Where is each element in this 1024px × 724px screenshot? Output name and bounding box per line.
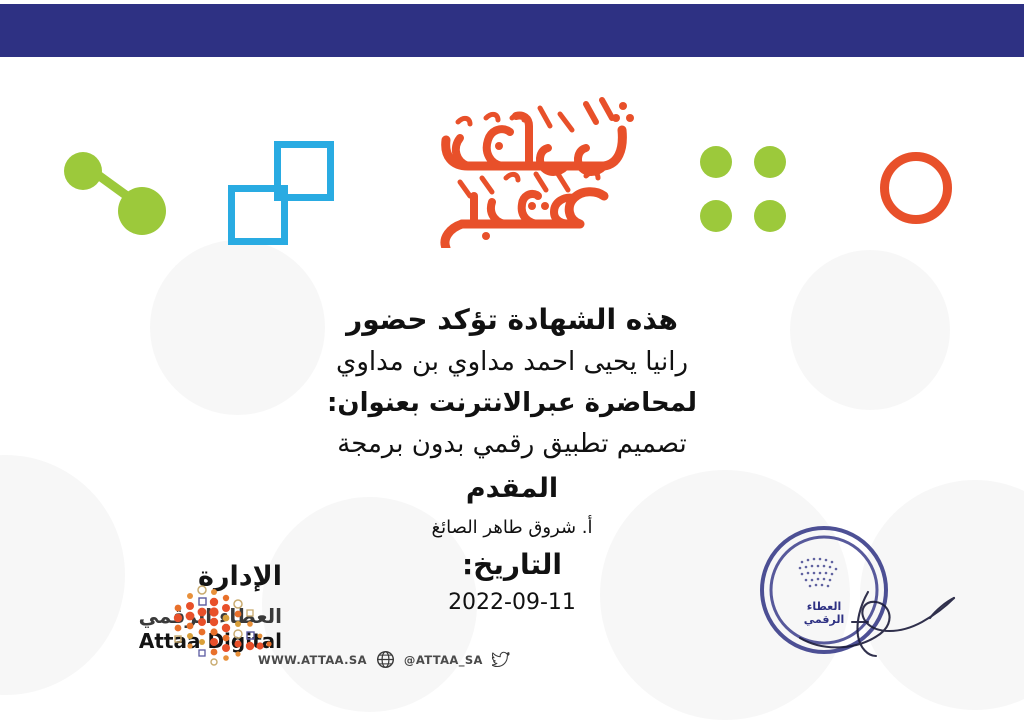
twitter-bird-icon <box>492 650 511 669</box>
recipient-name: رانيا يحيى احمد مداوي بن مداوي <box>0 346 1024 379</box>
certificate-title-calligraphy <box>390 78 650 248</box>
stamp-org-line-2: الرقمي <box>804 613 844 626</box>
certificate-page: هذه الشهادة تؤكد حضور رانيا يحيى احمد مد… <box>0 0 1024 724</box>
official-stamp-and-signature: العطاء الرقمي <box>740 518 980 668</box>
globe-icon <box>376 650 395 669</box>
lecture-label: لمحاضرة عبرالانترنت بعنوان: <box>0 387 1024 420</box>
green-dot-grid-icon <box>700 146 786 232</box>
confirmation-line: هذه الشهادة تؤكد حضور <box>0 302 1024 338</box>
green-node-link-icon <box>60 146 170 236</box>
stamp-rings <box>762 528 886 652</box>
lecture-topic: تصميم تطبيق رقمي بدون برمجة <box>0 428 1024 461</box>
stamp-org-line-1: العطاء <box>807 600 842 613</box>
presenter-label: المقدم <box>0 472 1024 507</box>
orange-ring-icon <box>880 152 952 224</box>
website-url[interactable]: WWW.ATTAA.SA <box>258 653 367 667</box>
footer-social-line: WWW.ATTAA.SA @ATTAA_SA <box>258 650 511 669</box>
blue-squares-pair-icon <box>228 141 330 241</box>
twitter-handle[interactable]: @ATTAA_SA <box>404 653 483 667</box>
